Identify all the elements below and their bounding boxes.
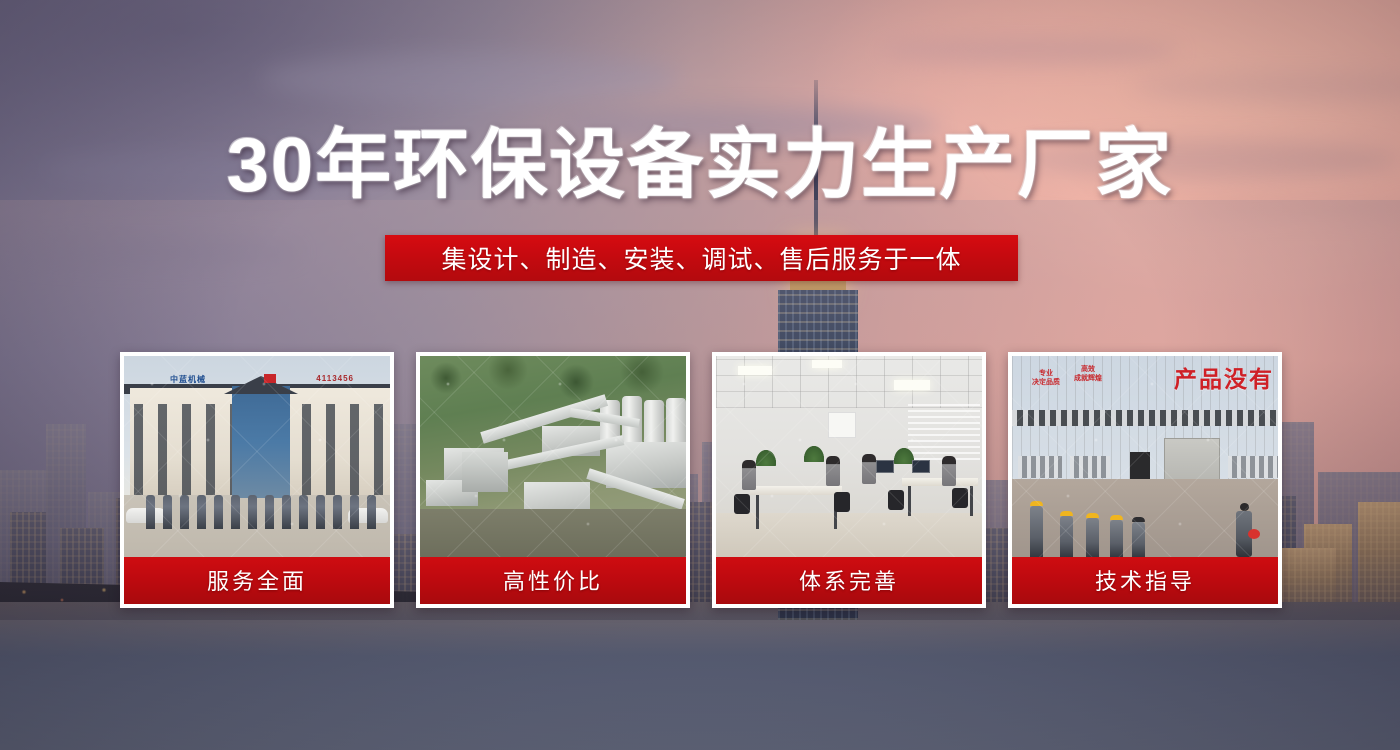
subtitle-text: 集设计、制造、安装、调试、售后服务于一体 (441, 240, 961, 276)
factory-wall-text: 产品没有 (1174, 360, 1274, 394)
headline-container: 30年环保设备实力生产厂家 (0, 128, 1400, 204)
card-label-text: 技术指导 (1095, 564, 1195, 596)
card-label-system: 体系完善 (716, 557, 982, 604)
card-label-text: 体系完善 (799, 564, 899, 596)
subtitle-banner: 集设计、制造、安装、调试、售后服务于一体 (385, 235, 1018, 281)
card-label-guidance: 技术指导 (1012, 557, 1278, 604)
worker (1110, 515, 1123, 557)
aerial-industrial-plant-photo (420, 356, 686, 557)
feature-card-service[interactable]: 中蓝机械 4113456 服务全面 (120, 352, 394, 608)
feature-card-guidance[interactable]: 产品没有 专业决定品质 高效成就辉煌 (1008, 352, 1282, 608)
office-interior-staff-photo (716, 356, 982, 557)
feature-card-value[interactable]: 高性价比 (416, 352, 690, 608)
building-phone-text: 4113456 (316, 374, 354, 383)
factory-slogan-left: 专业决定品质 (1032, 370, 1060, 388)
card-label-value: 高性价比 (420, 557, 686, 604)
card-label-text: 服务全面 (207, 564, 307, 596)
page-title: 30年环保设备实力生产厂家 (227, 128, 1174, 204)
factory-exterior-workers-photo: 产品没有 专业决定品质 高效成就辉煌 (1012, 356, 1278, 557)
worker (1086, 513, 1099, 557)
feature-cards: 中蓝机械 4113456 服务全面 (120, 352, 1282, 608)
card-label-text: 高性价比 (503, 564, 603, 596)
worker (1030, 501, 1043, 557)
card-label-service: 服务全面 (124, 557, 390, 604)
river-water (0, 602, 1400, 750)
hero-banner: 30年环保设备实力生产厂家 集设计、制造、安装、调试、售后服务于一体 中蓝机械 … (0, 0, 1400, 750)
building-sign-text: 中蓝机械 (170, 374, 206, 385)
headquarters-building-staff-photo: 中蓝机械 4113456 (124, 356, 390, 557)
red-helmet-icon (1248, 529, 1260, 539)
factory-slogan-right: 高效成就辉煌 (1074, 366, 1102, 384)
worker (1132, 517, 1145, 557)
feature-card-system[interactable]: 体系完善 (712, 352, 986, 608)
worker (1060, 511, 1073, 557)
staff-row (146, 489, 384, 529)
